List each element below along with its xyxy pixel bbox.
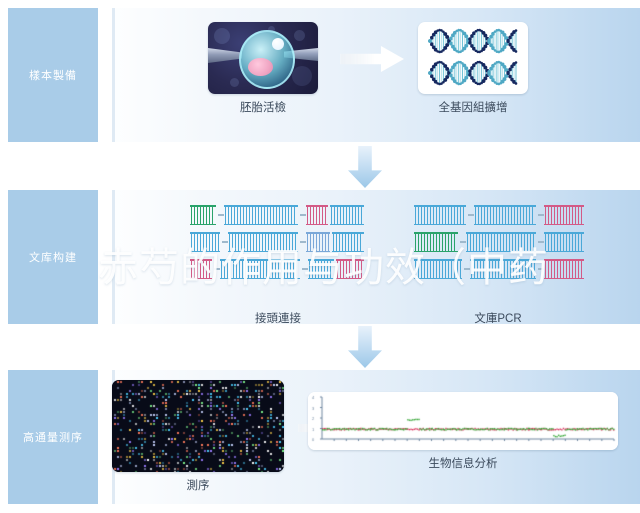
workflow-row-sequencing: 高通量测序 測序 生物信息分析 bbox=[0, 370, 640, 504]
cnv-scatter-chart bbox=[308, 392, 618, 450]
row-label-sequencing: 高通量测序 bbox=[8, 370, 98, 504]
workflow-row-sample-prep: 樣本製備 胚胎活檢 bbox=[0, 8, 640, 142]
sequencing-heatmap-image bbox=[112, 380, 284, 472]
dna-ladder-adapter-image bbox=[188, 204, 368, 282]
workflow-diagram: 樣本製備 胚胎活檢 bbox=[0, 0, 640, 513]
dna-ladder-pcr-image bbox=[408, 204, 588, 282]
dna-double-helix-image bbox=[418, 22, 528, 94]
figure-embryo-biopsy: 胚胎活檢 bbox=[208, 22, 318, 115]
figure-caption: 接頭連接 bbox=[188, 310, 368, 326]
figure-caption: 全基因組擴增 bbox=[418, 99, 528, 115]
figure-caption: 胚胎活檢 bbox=[208, 99, 318, 115]
row-label-library-construction: 文库构建 bbox=[8, 190, 98, 324]
row-label-sample-prep: 樣本製備 bbox=[8, 8, 98, 142]
figure-library-pcr: 文庫PCR bbox=[408, 204, 588, 326]
figure-sequencing: 測序 bbox=[112, 380, 284, 493]
figure-caption: 測序 bbox=[112, 477, 284, 493]
arrow-right-icon bbox=[340, 46, 404, 72]
arrow-down-icon bbox=[348, 146, 382, 188]
arrow-down-icon bbox=[348, 326, 382, 368]
figure-caption: 生物信息分析 bbox=[308, 455, 618, 471]
row-panel-sequencing: 測序 生物信息分析 bbox=[112, 370, 640, 504]
row-panel-sample-prep: 胚胎活檢 全基因組擴增 bbox=[112, 8, 640, 142]
figure-adapter-ligation: 接頭連接 bbox=[188, 204, 368, 326]
figure-caption: 文庫PCR bbox=[408, 310, 588, 326]
row-panel-library-construction: 接頭連接 文庫PCR bbox=[112, 190, 640, 324]
dna-helix-svg bbox=[418, 22, 528, 94]
embryo-biopsy-image bbox=[208, 22, 318, 94]
workflow-row-library-construction: 文库构建 接頭連接 文庫PCR bbox=[0, 190, 640, 324]
figure-whole-genome-amplification: 全基因組擴增 bbox=[418, 22, 528, 115]
pipette-left-icon bbox=[208, 48, 242, 63]
figure-bioinformatics-analysis: 生物信息分析 bbox=[308, 392, 618, 471]
